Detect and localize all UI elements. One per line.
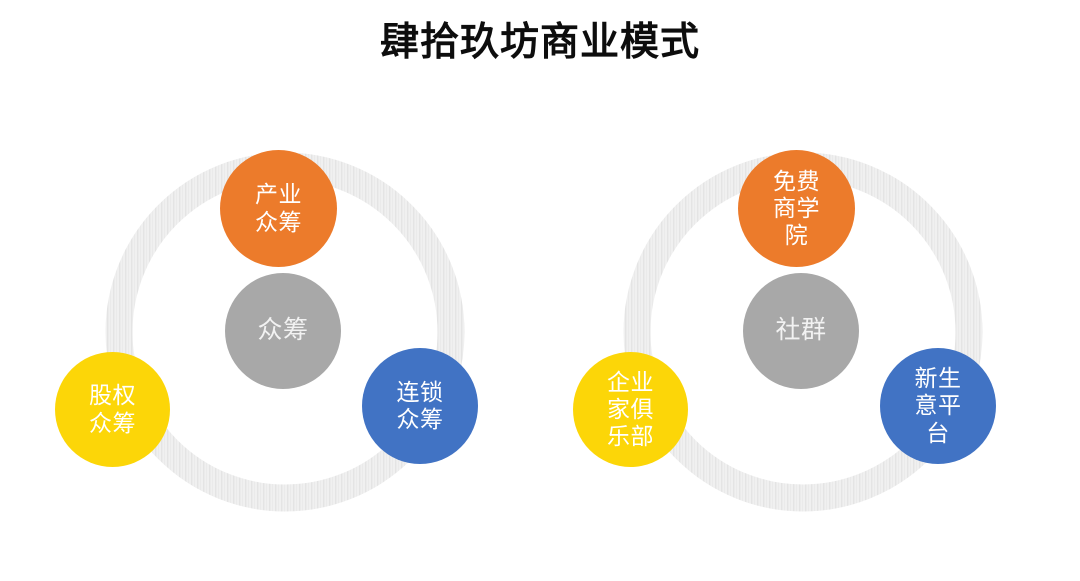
node-industry-crowdfunding[interactable]: 产业众筹 xyxy=(220,150,337,267)
center-node-label: 社群 xyxy=(759,316,843,346)
node-equity-crowdfunding[interactable]: 股权众筹 xyxy=(55,352,170,467)
node-entrepreneur-club[interactable]: 企业家俱乐部 xyxy=(573,352,688,467)
node-label: 股权众筹 xyxy=(75,382,151,436)
diagram-community: 社群 免费商学院 企业家俱乐部 新生意平台 xyxy=(558,130,1028,550)
node-label: 免费商学院 xyxy=(766,168,828,249)
node-chain-crowdfunding[interactable]: 连锁众筹 xyxy=(362,348,478,464)
page-title: 肆拾玖坊商业模式 xyxy=(0,22,1080,65)
node-label: 企业家俱乐部 xyxy=(600,369,662,450)
node-new-business-platform[interactable]: 新生意平台 xyxy=(880,348,996,464)
diagram-crowdfunding: 众筹 产业众筹 股权众筹 连锁众筹 xyxy=(40,130,510,550)
center-node-label: 众筹 xyxy=(241,316,325,346)
node-free-business-school[interactable]: 免费商学院 xyxy=(738,150,855,267)
node-label: 新生意平台 xyxy=(907,365,969,446)
node-label: 产业众筹 xyxy=(241,181,317,235)
node-label: 连锁众筹 xyxy=(382,379,458,433)
center-node-crowdfunding[interactable]: 众筹 xyxy=(225,273,341,389)
center-node-community[interactable]: 社群 xyxy=(743,273,859,389)
